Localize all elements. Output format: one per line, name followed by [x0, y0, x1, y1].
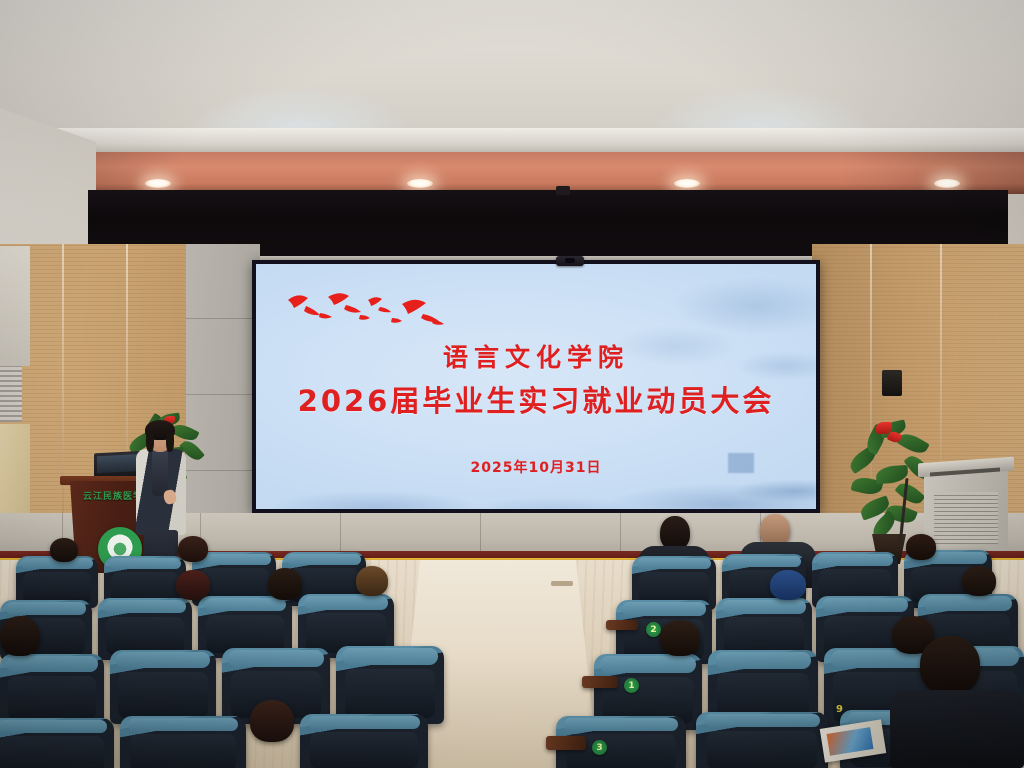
attendee-head [176, 570, 210, 600]
armrest [606, 620, 638, 630]
downlight-1 [145, 179, 171, 188]
attendee-head [250, 700, 294, 742]
downlight-3 [674, 179, 700, 188]
seat-number-badge: 1 [624, 678, 639, 693]
armrest [546, 736, 586, 750]
seat-number-badge: 3 [592, 740, 607, 755]
attendee-head [50, 538, 78, 562]
attendee-head [962, 566, 996, 596]
attendee-head [660, 620, 700, 656]
auditorium-photo: 语言文化学院 2026届毕业生实习就业动员大会 2025年10月31日 [0, 0, 1024, 768]
floor-outlet-plate [551, 581, 573, 586]
projection-title-line2: 2026届毕业生实习就业动员大会 [256, 378, 816, 420]
attendee-head [268, 568, 302, 600]
projection-screen-surface: 语言文化学院 2026届毕业生实习就业动员大会 2025年10月31日 [256, 264, 816, 509]
attendee-head [660, 516, 690, 550]
attendee-head [906, 534, 936, 560]
ceiling-mount-bracket [556, 186, 570, 195]
seat[interactable] [0, 718, 114, 768]
seat[interactable] [336, 646, 444, 724]
console-vent-panel [934, 492, 998, 544]
seat-number-badge: 2 [646, 622, 661, 637]
attendee-head [920, 636, 980, 694]
attendee-head [0, 616, 40, 656]
projection-screen[interactable]: 语言文化学院 2026届毕业生实习就业动员大会 2025年10月31日 [252, 260, 820, 513]
seat[interactable] [120, 716, 246, 768]
attendee-cap-head [770, 570, 806, 600]
seat[interactable] [110, 650, 216, 724]
projection-title-line1: 语言文化学院 [256, 338, 816, 374]
seat[interactable] [300, 714, 428, 768]
ceiling-beam [0, 128, 1024, 154]
armrest [582, 676, 618, 688]
flying-geese-icon [284, 286, 464, 331]
seat-back-number: 9 [832, 702, 847, 717]
attendee-torso [890, 690, 1024, 768]
seat[interactable] [696, 712, 828, 768]
wall-speaker-right [882, 370, 902, 396]
wall-cabinet-left [0, 246, 30, 366]
downlight-4 [934, 179, 960, 188]
attendee-head [356, 566, 388, 596]
projection-title-block: 语言文化学院 2026届毕业生实习就业动员大会 [256, 338, 816, 420]
attendee-head [178, 536, 208, 562]
downlight-2 [407, 179, 433, 188]
projection-date: 2025年10月31日 [256, 457, 816, 477]
wall-vent-grille [0, 366, 22, 422]
seat[interactable] [0, 654, 104, 726]
ceiling-camera-icon [556, 256, 584, 266]
ceiling-upper [0, 0, 1024, 135]
